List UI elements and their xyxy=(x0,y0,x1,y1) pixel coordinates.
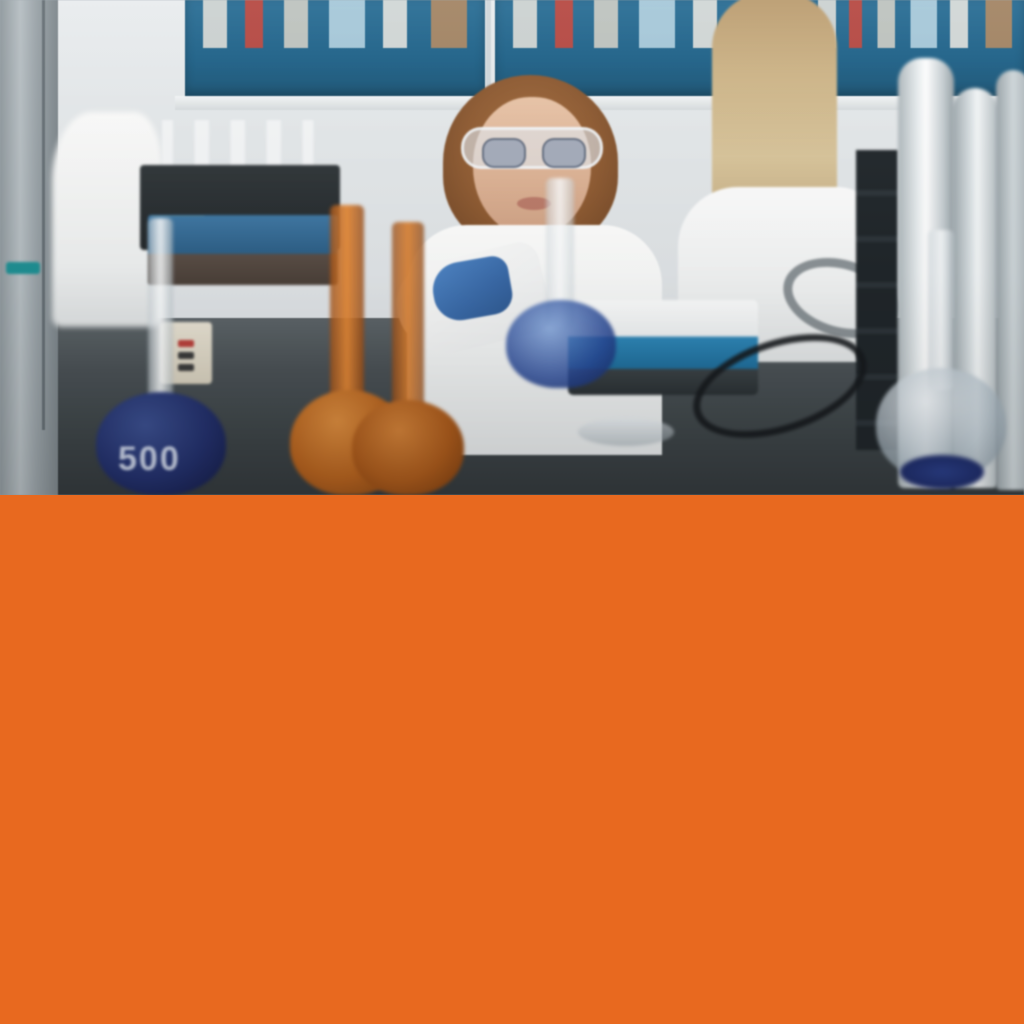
volumetric-flask-neck xyxy=(392,222,424,422)
lab-column-left xyxy=(0,0,58,495)
column-seam xyxy=(42,0,45,430)
orange-text-panel: THERE IS A FINE LINE BETWEEN PASSION AND… xyxy=(0,495,1024,1024)
erlenmeyer-flask-blue xyxy=(506,300,616,388)
flask-liquid-blue xyxy=(900,455,984,489)
advertisement-card: 500 THERE IS A FINE LINE BETWEEN PASSION… xyxy=(0,0,1024,1024)
lab-photo-scene: 500 xyxy=(0,0,1024,495)
cabinet-contents xyxy=(185,0,485,48)
goggle-lens-right xyxy=(542,138,586,168)
teal-marker xyxy=(6,262,40,274)
lab-instrument-base xyxy=(148,215,338,285)
petri-dish xyxy=(578,418,674,446)
safety-goggles xyxy=(461,127,603,169)
flask-volume-label: 500 xyxy=(118,440,181,479)
goggle-lens-left xyxy=(482,138,526,168)
volumetric-flask-neck xyxy=(928,230,954,390)
volumetric-flask-neck xyxy=(330,205,364,420)
volumetric-flask-amber-2 xyxy=(352,400,464,495)
lab-photo: 500 xyxy=(0,0,1024,495)
